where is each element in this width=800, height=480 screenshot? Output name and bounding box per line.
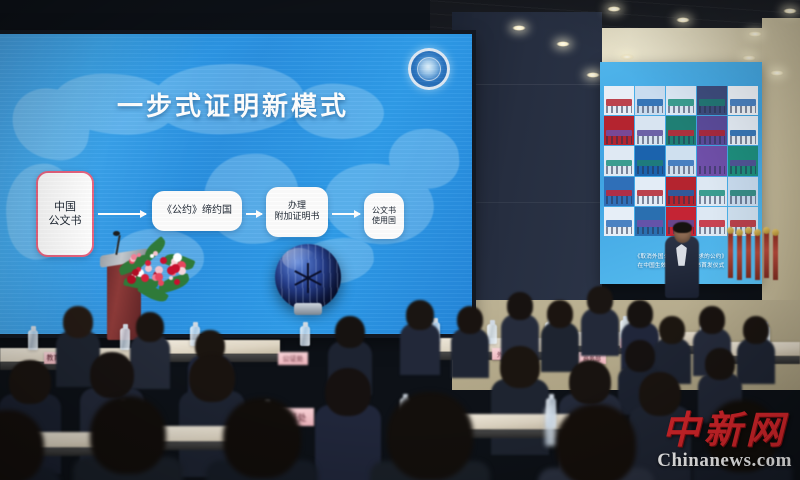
video-tile (728, 146, 758, 175)
video-tile-banner (699, 130, 724, 136)
video-tile-banner (730, 220, 755, 226)
video-tile-banner (730, 99, 755, 105)
bouquet-flower (173, 253, 182, 262)
audience-member-head (699, 306, 725, 334)
video-tile-banner (637, 160, 662, 166)
video-tile (697, 116, 727, 145)
audience-member-head (625, 340, 655, 372)
flow-node-label-line2: 公文书 (49, 214, 82, 228)
audience-member-head (223, 398, 301, 478)
video-tile (604, 116, 634, 145)
video-tile-participants (637, 106, 663, 114)
microphone-icon (113, 231, 120, 236)
bouquet-flower (145, 265, 152, 272)
flow-node-label-line1: 公文书 (372, 206, 396, 216)
video-tile-participants (606, 227, 632, 235)
video-tile-participants (668, 166, 694, 174)
video-tile (635, 86, 665, 115)
audience-member-head (457, 306, 483, 334)
video-tile-banner (730, 190, 755, 196)
downlight (676, 17, 690, 23)
video-tile-participants (699, 106, 725, 114)
downlight (783, 8, 797, 14)
video-tile-banner (606, 190, 631, 196)
floral-arrangement (118, 243, 192, 301)
flow-node-label-line2: 附加证明书 (274, 212, 319, 223)
video-tile-participants (699, 227, 725, 235)
flow-node-label-line1: 中国 (54, 200, 76, 214)
water-bottle (28, 330, 38, 350)
water-bottle (300, 326, 310, 346)
video-tile (666, 146, 696, 175)
flow-node-label-line2: 使用国 (372, 216, 396, 226)
flow-node-label-line1: 《公约》缔约国 (162, 205, 232, 218)
watermark-english: Chinanews.com (657, 450, 792, 472)
video-tile-banner (699, 99, 724, 105)
audience-member-head (705, 348, 735, 380)
video-tile (635, 207, 665, 236)
main-projection-screen: 一步式证明新模式 中国公文书《公约》缔约国办理附加证明书公文书使用国 (0, 34, 472, 334)
video-tile-banner (699, 220, 724, 226)
video-tile-banner (606, 220, 631, 226)
video-tile-participants (606, 136, 632, 144)
flow-arrow (332, 213, 360, 215)
audience-member-head (406, 300, 434, 330)
slide-title: 一步式证明新模式 (0, 86, 472, 123)
video-tile-banner (637, 99, 662, 105)
downlight (607, 6, 621, 12)
video-tile-participants (699, 166, 725, 174)
watermark-chinese: 中新网 (657, 411, 792, 449)
video-tile-participants (699, 136, 725, 144)
process-flow-diagram: 中国公文书《公约》缔约国办理附加证明书公文书使用国 (0, 169, 472, 269)
audience-member-head (569, 360, 611, 404)
video-tile (666, 86, 696, 115)
video-tile-participants (668, 136, 694, 144)
water-bottle (120, 328, 130, 350)
ministry-seal-emblem (408, 48, 450, 90)
flag-finial (763, 227, 770, 234)
speaker-hair (673, 222, 692, 233)
right-wall-panel (762, 18, 800, 348)
video-tile (697, 86, 727, 115)
video-tile (635, 116, 665, 145)
audience-member-torso (400, 323, 440, 375)
video-tile (604, 146, 634, 175)
audience-member-head (556, 404, 636, 480)
audience-member-head (90, 396, 166, 474)
name-card: 公证处 (278, 352, 308, 365)
flag-banner (728, 232, 733, 278)
video-tile-participants (730, 106, 756, 114)
video-tile-participants (606, 166, 632, 174)
video-tile (728, 116, 758, 145)
video-tile-banner (668, 190, 693, 196)
audience-member-torso (541, 322, 579, 372)
flow-node-1: 中国公文书 (36, 171, 94, 257)
video-tile (728, 86, 758, 115)
video-tile-banner (668, 130, 693, 136)
video-tile-banner (606, 99, 631, 105)
video-tile-banner (668, 160, 693, 166)
audience-member-head (743, 316, 769, 344)
bouquet-flower (171, 264, 180, 273)
flag-finial (736, 229, 743, 236)
video-tile (728, 177, 758, 206)
audience-member-head (90, 352, 134, 398)
globe-pedestal (294, 303, 322, 315)
video-tile (697, 146, 727, 175)
video-tile-banner (637, 220, 662, 226)
audience-member-head (325, 368, 371, 416)
flag-finial (754, 229, 761, 236)
conference-hall-photo: 一步式证明新模式 中国公文书《公约》缔约国办理附加证明书公文书使用国 《取消外国… (0, 0, 800, 480)
video-tile (666, 177, 696, 206)
audience-member-head (627, 300, 653, 328)
video-tile (604, 177, 634, 206)
video-tile-banner (606, 160, 631, 166)
audience-member-head (659, 316, 685, 344)
video-tile (697, 207, 727, 236)
downlight (770, 70, 784, 76)
video-tile (666, 116, 696, 145)
flow-node-4: 公文书使用国 (364, 193, 404, 239)
chinanews-watermark: 中新网 Chinanews.com (657, 411, 792, 472)
audience-member-head (9, 360, 51, 404)
flow-node-2: 《公约》缔约国 (152, 191, 242, 231)
video-tile-participants (699, 196, 725, 204)
flow-arrow (246, 213, 262, 215)
video-tile-banner (637, 130, 662, 136)
video-tile-participants (637, 166, 663, 174)
downlight (742, 55, 756, 61)
bouquet-flower (150, 254, 154, 258)
audience-member-torso (581, 308, 619, 356)
video-tile-participants (668, 196, 694, 204)
video-tile (697, 177, 727, 206)
video-tile-banner (606, 130, 631, 136)
bouquet-flower (137, 253, 141, 257)
bouquet-flower (169, 276, 173, 280)
downlight (556, 41, 570, 47)
video-tile-participants (637, 136, 663, 144)
flow-arrow (98, 213, 146, 215)
bouquet-flower (127, 275, 136, 284)
video-tile-banner (699, 190, 724, 196)
video-tile-banner (730, 130, 755, 136)
audience-member-torso (737, 338, 775, 384)
bouquet-flower (174, 279, 180, 285)
flag-banner (773, 234, 778, 280)
flag-finial (727, 227, 734, 234)
video-tile-banner (668, 99, 693, 105)
flow-node-label-line1: 办理 (288, 201, 306, 212)
bouquet-flower (145, 260, 151, 266)
video-tile-banner (699, 160, 724, 166)
flag-finial (772, 229, 779, 236)
flag-banner (746, 232, 751, 278)
audience-member-head (507, 292, 533, 320)
audience-member-head (63, 306, 93, 338)
video-tile-participants (637, 196, 663, 204)
navy-wall-panel (452, 12, 602, 342)
video-tile (604, 207, 634, 236)
downlight (748, 31, 762, 37)
video-tile (604, 86, 634, 115)
video-tile-participants (637, 227, 663, 235)
video-tile-participants (730, 196, 756, 204)
video-tile-participants (606, 106, 632, 114)
flag-banner (764, 232, 769, 278)
audience-member-head (547, 300, 573, 328)
water-bottle (545, 408, 555, 446)
video-tile-participants (730, 166, 756, 174)
video-tile-banner (730, 160, 755, 166)
audience-member-torso (451, 328, 489, 378)
downlight (586, 72, 600, 78)
downlight (620, 54, 634, 60)
audience-member-head (189, 354, 235, 402)
flag-banner (737, 234, 742, 280)
flag-banner (755, 234, 760, 280)
video-tile-participants (730, 136, 756, 144)
downlight (512, 25, 526, 31)
video-tile (635, 146, 665, 175)
audience-member-head (335, 316, 365, 348)
flow-node-3: 办理附加证明书 (266, 187, 328, 237)
crystal-globe-sculpture (275, 244, 341, 310)
audience-member-head (587, 286, 613, 314)
video-tile-participants (668, 106, 694, 114)
video-tile-participants (606, 196, 632, 204)
audience-member-torso (130, 335, 170, 389)
flag-finial (745, 227, 752, 234)
audience-member-head (387, 392, 473, 480)
video-tile (635, 177, 665, 206)
video-tile-grid (604, 86, 758, 236)
audience-member-head (500, 346, 540, 388)
video-tile-banner (637, 190, 662, 196)
audience-member-head (136, 312, 164, 342)
